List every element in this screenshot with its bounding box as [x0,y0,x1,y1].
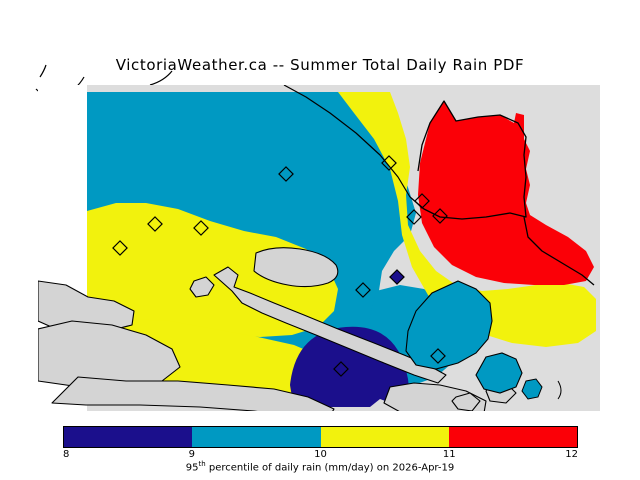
weather-map-page: VictoriaWeather.ca -- Summer Total Daily… [0,0,640,480]
colorbar-caption: 95th percentile of daily rain (mm/day) o… [0,460,640,473]
map-panel[interactable] [38,85,600,411]
colorbar[interactable] [63,426,578,448]
caption-prefix: 95 [186,462,199,473]
colorbar-tick-12: 12 [565,449,578,460]
colorbar-segment-11-12[interactable] [449,427,577,447]
colorbar-gradient[interactable] [63,426,578,448]
colorbar-segment-10-11[interactable] [321,427,449,447]
caption-superscript: th [199,460,206,468]
colorbar-tick-8: 8 [63,449,69,460]
colorbar-tick-11: 11 [443,449,456,460]
colorbar-tick-10: 10 [314,449,327,460]
contour-map[interactable] [38,85,600,411]
caption-suffix: percentile of daily rain (mm/day) on 202… [206,462,455,473]
page-title: VictoriaWeather.ca -- Summer Total Daily… [0,56,640,74]
colorbar-segment-9-10[interactable] [192,427,320,447]
colorbar-tick-9: 9 [189,449,195,460]
colorbar-segment-8-9[interactable] [64,427,192,447]
